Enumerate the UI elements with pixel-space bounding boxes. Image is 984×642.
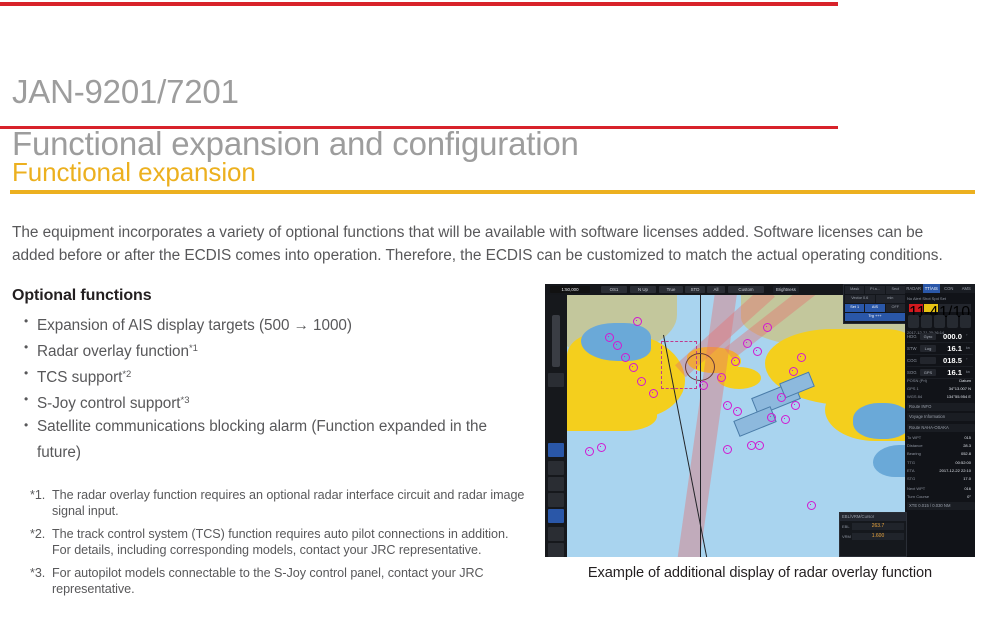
nav-label: HDG: [907, 331, 918, 342]
ebl-vrm-dialog[interactable]: EBL/VRM/Cursor EBL 263.7 VRM 1.600: [839, 512, 907, 557]
alarm-indicator-bar[interactable]: 11 -4 1/10: [909, 304, 971, 312]
list-item: Radar overlay function*1: [22, 337, 532, 363]
side-panel-icon-row[interactable]: [908, 315, 972, 328]
footnote-marker: *1.: [30, 487, 45, 503]
navigation-readouts: HDG Gyro 000.0 ° STW Log 16.1 kn COG 018…: [907, 331, 973, 379]
ais-target[interactable]: [629, 363, 638, 372]
list-item: TCS support*2: [22, 363, 532, 389]
ebl-vrm-dialog-title: EBL/VRM/Cursor: [840, 513, 906, 521]
list-item-text: TCS support: [37, 369, 122, 386]
ais-target[interactable]: [747, 441, 756, 450]
header-rule-top: [0, 2, 838, 6]
route-row-eta: ETA 2017-12-22 22:10: [907, 467, 973, 474]
route-row-distance: Distance 28.3: [907, 442, 973, 449]
chart-scale-chip[interactable]: 1:50,000: [550, 286, 590, 293]
ais-target[interactable]: [767, 413, 776, 422]
ais-target[interactable]: [791, 401, 800, 410]
ais-target[interactable]: [621, 353, 630, 362]
nav-value: 018.5: [938, 355, 964, 366]
toolbar-chip-custom[interactable]: Custom: [728, 286, 764, 293]
day-night-icon[interactable]: [960, 315, 971, 328]
position-datum: WGS 84: [907, 394, 922, 399]
ais-target[interactable]: [777, 393, 786, 402]
route-value: 016: [964, 485, 973, 492]
tab-ams[interactable]: AMS: [958, 284, 976, 293]
vector-length-unit: min: [876, 295, 906, 303]
footnote-marker: *3.: [30, 565, 45, 581]
position-header: POSN (Pri) Datum: [907, 377, 973, 384]
toolbar-chip-std[interactable]: STD: [685, 286, 705, 293]
ecdis-screenshot: 1:50,000 OS1 N Up True STD All Custom Br…: [545, 284, 975, 557]
ais-target[interactable]: [753, 347, 762, 356]
footnote-marker: *2.: [30, 526, 45, 542]
ais-target[interactable]: [789, 367, 798, 376]
brilliance-slider[interactable]: [552, 315, 560, 367]
ais-target[interactable]: [723, 401, 732, 410]
rail-button-tools-icon[interactable]: [548, 477, 564, 491]
route-value: 0°: [967, 493, 973, 500]
alert-status-text: No Alert Shot Spd Set: [907, 295, 973, 302]
ais-target[interactable]: [797, 353, 806, 362]
footnote-text: The track control system (TCS) function …: [52, 527, 508, 557]
heading-line: [700, 295, 701, 557]
nav-row-stw: STW Log 16.1 kn: [907, 343, 973, 355]
route-row-stg: STG 17.0: [907, 475, 973, 482]
nav-source[interactable]: [920, 357, 936, 364]
vector-panel-sect[interactable]: Sect: [886, 286, 905, 294]
rail-button-pen-icon[interactable]: [548, 493, 564, 507]
section-rule: [10, 190, 975, 194]
vector-length-value[interactable]: Vector 0.6: [845, 295, 875, 303]
rail-button-layers-icon[interactable]: [548, 527, 564, 541]
nav-value: 16.1: [938, 343, 964, 354]
intro-paragraph: The equipment incorporates a variety of …: [12, 221, 962, 267]
ais-target[interactable]: [733, 407, 742, 416]
route-row-towpt: To WPT 015: [907, 434, 973, 441]
ais-target[interactable]: [717, 373, 726, 382]
ais-target[interactable]: [637, 377, 646, 386]
route-row-ttg: TTG 00:52:00: [907, 459, 973, 466]
vector-panel-set1[interactable]: Set 1: [845, 304, 864, 312]
route-label: Turn Course: [907, 494, 929, 499]
route-label: TTG: [907, 460, 915, 465]
route-row-turn-course: Turn Course 0°: [907, 493, 973, 500]
position-header-label: POSN (Pri): [907, 378, 927, 383]
ais-target[interactable]: [605, 333, 614, 342]
ais-target[interactable]: [633, 317, 642, 326]
vector-panel-off[interactable]: OFF: [886, 304, 905, 312]
route-row-next-wpt: Next WPT 016: [907, 485, 973, 492]
shoal-southeast: [873, 445, 905, 477]
ais-target[interactable]: [613, 341, 622, 350]
alarm-count-warning[interactable]: -4: [924, 304, 938, 312]
optional-functions-list: Expansion of AIS display targets (500 → …: [22, 311, 532, 464]
shoal-east: [853, 403, 905, 439]
vrm-label: VRM: [842, 534, 850, 539]
ais-target[interactable]: [755, 441, 764, 450]
display-icon[interactable]: [921, 315, 932, 328]
list-item: Satellite communications blocking alarm …: [22, 415, 532, 464]
ais-target[interactable]: [649, 389, 658, 398]
route-value: 052.8: [961, 450, 973, 457]
list-item-text: Expansion of AIS display targets (500 → …: [37, 317, 352, 334]
radar-icon[interactable]: [947, 315, 958, 328]
figure-caption: Example of additional display of radar o…: [545, 563, 975, 583]
tab-con[interactable]: CON: [940, 284, 958, 293]
route-label: To WPT: [907, 435, 921, 440]
route-value: 00:52:00: [955, 459, 973, 466]
vrm-value[interactable]: 1.600: [852, 533, 904, 540]
xte-block[interactable]: XTE 0.015 / 0.030 NM: [907, 502, 975, 510]
nav-source[interactable]: GPS: [920, 369, 936, 376]
footnotes: *1. The radar overlay function requires …: [30, 487, 530, 603]
rail-button-mode-active[interactable]: [548, 443, 564, 457]
nav-value: 000.0: [938, 331, 964, 342]
alarm-count-total[interactable]: 1/10: [939, 304, 971, 312]
ecdis-side-panel[interactable]: RADAR TT/AIS CON AMS No Alert Shot Spd S…: [905, 284, 975, 557]
route-label: Distance: [907, 443, 923, 448]
position-latitude: 34°13.007 N: [949, 385, 973, 392]
voyage-info-block[interactable]: Voyage Information: [907, 413, 975, 421]
vector-panel-pi[interactable]: PI a...: [865, 286, 884, 294]
route-label: STG: [907, 476, 915, 481]
nav-source[interactable]: Gyro: [920, 333, 936, 340]
ais-target[interactable]: [723, 445, 732, 454]
nav-row-cog: COG 018.5 °: [907, 355, 973, 367]
footnote-text: The radar overlay function requires an o…: [52, 488, 524, 518]
toolbar-chip-all[interactable]: All: [707, 286, 725, 293]
footnote: *1. The radar overlay function requires …: [30, 487, 530, 520]
ais-target[interactable]: [699, 381, 708, 390]
chart-icon[interactable]: [934, 315, 945, 328]
list-item-text: Satellite communications blocking alarm …: [37, 418, 487, 461]
vector-panel-row: Set 1 AIS OFF: [844, 303, 906, 312]
ecdis-tool-rail[interactable]: [545, 295, 567, 557]
ais-target[interactable]: [781, 415, 790, 424]
rail-button-anchor-icon[interactable]: [548, 461, 564, 475]
ebl-row: EBL 263.7: [840, 521, 906, 531]
route-value: 015: [964, 434, 973, 441]
toolbar-chip-true[interactable]: True: [659, 286, 683, 293]
rail-button-menu-icon[interactable]: [548, 543, 564, 557]
position-datum-label: Datum: [959, 377, 973, 384]
ais-target[interactable]: [731, 357, 740, 366]
footnote: *3. For autopilot models connectable to …: [30, 565, 530, 598]
alarm-count-critical[interactable]: 11: [909, 304, 923, 312]
list-item-text: S-Joy control support: [37, 395, 181, 412]
ebl-value[interactable]: 263.7: [852, 523, 904, 530]
position-row-lat: GPS 1 34°13.007 N: [907, 385, 973, 392]
route-name-block[interactable]: Route NAHA-OSAKA: [907, 424, 975, 432]
nav-row-hdg: HDG Gyro 000.0 °: [907, 331, 973, 343]
position-source[interactable]: GPS 1: [907, 386, 919, 391]
footnote: *2. The track control system (TCS) funct…: [30, 526, 530, 559]
list-item-note: *2: [122, 369, 131, 380]
footnote-text: For autopilot models connectable to the …: [52, 566, 484, 596]
toolbar-chip-nup[interactable]: N Up: [630, 286, 656, 293]
route-value: 2017-12-22 22:10: [939, 467, 973, 474]
rail-button-gain[interactable]: [548, 373, 564, 387]
ecdis-vector-panel[interactable]: Mask PI a... Sect Vector 0.6 min Set 1 A…: [843, 284, 907, 324]
vector-panel-trg[interactable]: Trg +++: [845, 313, 905, 321]
nav-source[interactable]: Log: [920, 345, 936, 352]
list-item-text: Radar overlay function: [37, 343, 189, 360]
route-label: Next WPT: [907, 486, 925, 491]
ais-target[interactable]: [597, 443, 606, 452]
ais-target[interactable]: [743, 339, 752, 348]
brightness-button[interactable]: Brightness: [773, 286, 799, 293]
ais-target[interactable]: [763, 323, 772, 332]
route-info-block[interactable]: Route INFO: [907, 403, 975, 411]
route-value: 17.0: [963, 475, 973, 482]
ais-target[interactable]: [585, 447, 594, 456]
turn-radius-ring: [685, 353, 715, 381]
route-label: ETA: [907, 468, 914, 473]
list-item: Expansion of AIS display targets (500 → …: [22, 311, 532, 337]
vector-panel-row: Vector 0.6 min: [844, 294, 906, 303]
page-title-model: JAN-9201/7201: [12, 73, 239, 110]
vector-panel-row: Trg +++: [844, 312, 906, 321]
position-row-lon: WGS 84 134°55.954 E: [907, 393, 973, 400]
ebl-label: EBL: [842, 524, 850, 529]
ais-target[interactable]: [807, 501, 816, 510]
route-value: 28.3: [963, 442, 973, 449]
tab-ttais[interactable]: TT/AIS: [923, 284, 941, 293]
vector-panel-row: Mask PI a... Sect: [844, 285, 906, 294]
toolbar-chip-os1[interactable]: OS1: [601, 286, 627, 293]
rail-button-chart-active[interactable]: [548, 509, 564, 523]
vrm-row: VRM 1.600: [840, 531, 906, 541]
side-panel-tabs[interactable]: RADAR TT/AIS CON AMS: [905, 284, 975, 293]
route-label: Bearing: [907, 451, 921, 456]
nav-label: COG: [907, 355, 918, 366]
list-item-note: *3: [181, 395, 190, 406]
vector-panel-ais[interactable]: AIS: [865, 304, 884, 312]
tab-radar[interactable]: RADAR: [905, 284, 923, 293]
section-heading: Functional expansion: [12, 156, 256, 188]
header-rule-bottom: [0, 126, 838, 129]
list-item: S-Joy control support*3: [22, 389, 532, 415]
route-row-bearing: Bearing 052.8: [907, 450, 973, 457]
optional-functions-heading: Optional functions: [12, 287, 152, 305]
nav-label: STW: [907, 343, 918, 354]
list-item-note: *1: [189, 343, 198, 354]
vector-panel-mask[interactable]: Mask: [845, 286, 864, 294]
compass-icon[interactable]: [908, 315, 919, 328]
position-longitude: 134°55.954 E: [947, 393, 973, 400]
